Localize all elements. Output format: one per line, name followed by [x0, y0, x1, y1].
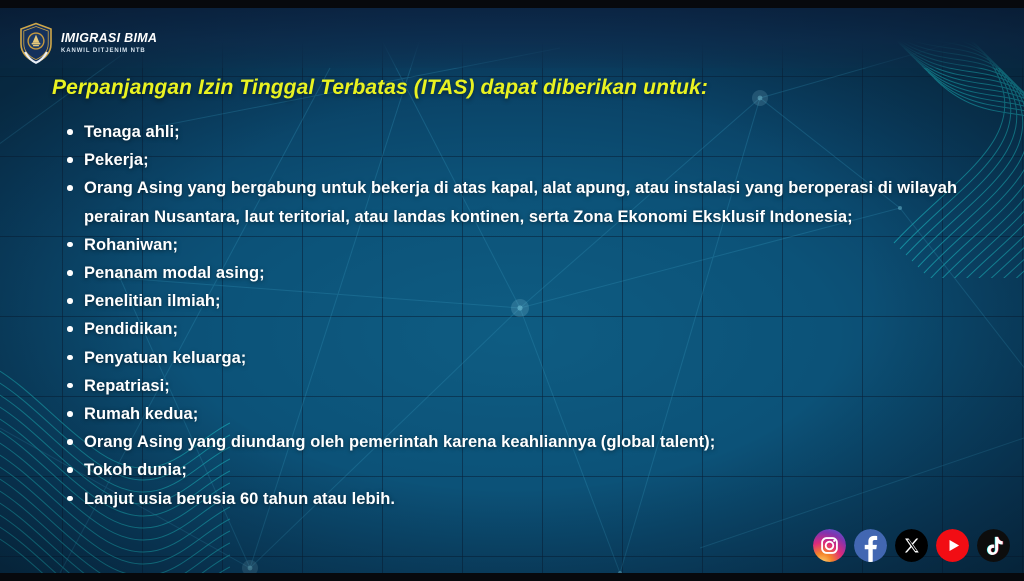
instagram-icon[interactable] — [813, 529, 846, 562]
social-media-links — [813, 529, 1010, 562]
requirements-list: Tenaga ahli; Pekerja; Orang Asing yang b… — [62, 118, 962, 513]
youtube-icon[interactable] — [936, 529, 969, 562]
list-item: Pendidikan; — [62, 315, 962, 343]
presentation-slide: IMIGRASI BIMA KANWIL DITJENIM NTB Perpan… — [0, 0, 1024, 581]
list-item: Tokoh dunia; — [62, 456, 962, 484]
list-item: Rohaniwan; — [62, 231, 962, 259]
list-item: Pekerja; — [62, 146, 962, 174]
facebook-icon[interactable] — [854, 529, 887, 562]
list-item: Rumah kedua; — [62, 400, 962, 428]
list-item: Orang Asing yang bergabung untuk bekerja… — [62, 174, 962, 230]
list-item: Tenaga ahli; — [62, 118, 962, 146]
list-item: Penanam modal asing; — [62, 259, 962, 287]
list-item: Penyatuan keluarga; — [62, 344, 962, 372]
list-item: Lanjut usia berusia 60 tahun atau lebih. — [62, 485, 962, 513]
letterbox-bar-bottom — [0, 573, 1024, 581]
list-item: Orang Asing yang diundang oleh pemerinta… — [62, 428, 962, 456]
slide-stage: IMIGRASI BIMA KANWIL DITJENIM NTB Perpan… — [0, 8, 1024, 573]
letterbox-bar-top — [0, 0, 1024, 8]
slide-content: Perpanjangan Izin Tinggal Terbatas (ITAS… — [0, 8, 1024, 573]
tiktok-icon[interactable] — [977, 529, 1010, 562]
list-item: Repatriasi; — [62, 372, 962, 400]
slide-title: Perpanjangan Izin Tinggal Terbatas (ITAS… — [52, 76, 708, 100]
list-item: Penelitian ilmiah; — [62, 287, 962, 315]
x-twitter-icon[interactable] — [895, 529, 928, 562]
